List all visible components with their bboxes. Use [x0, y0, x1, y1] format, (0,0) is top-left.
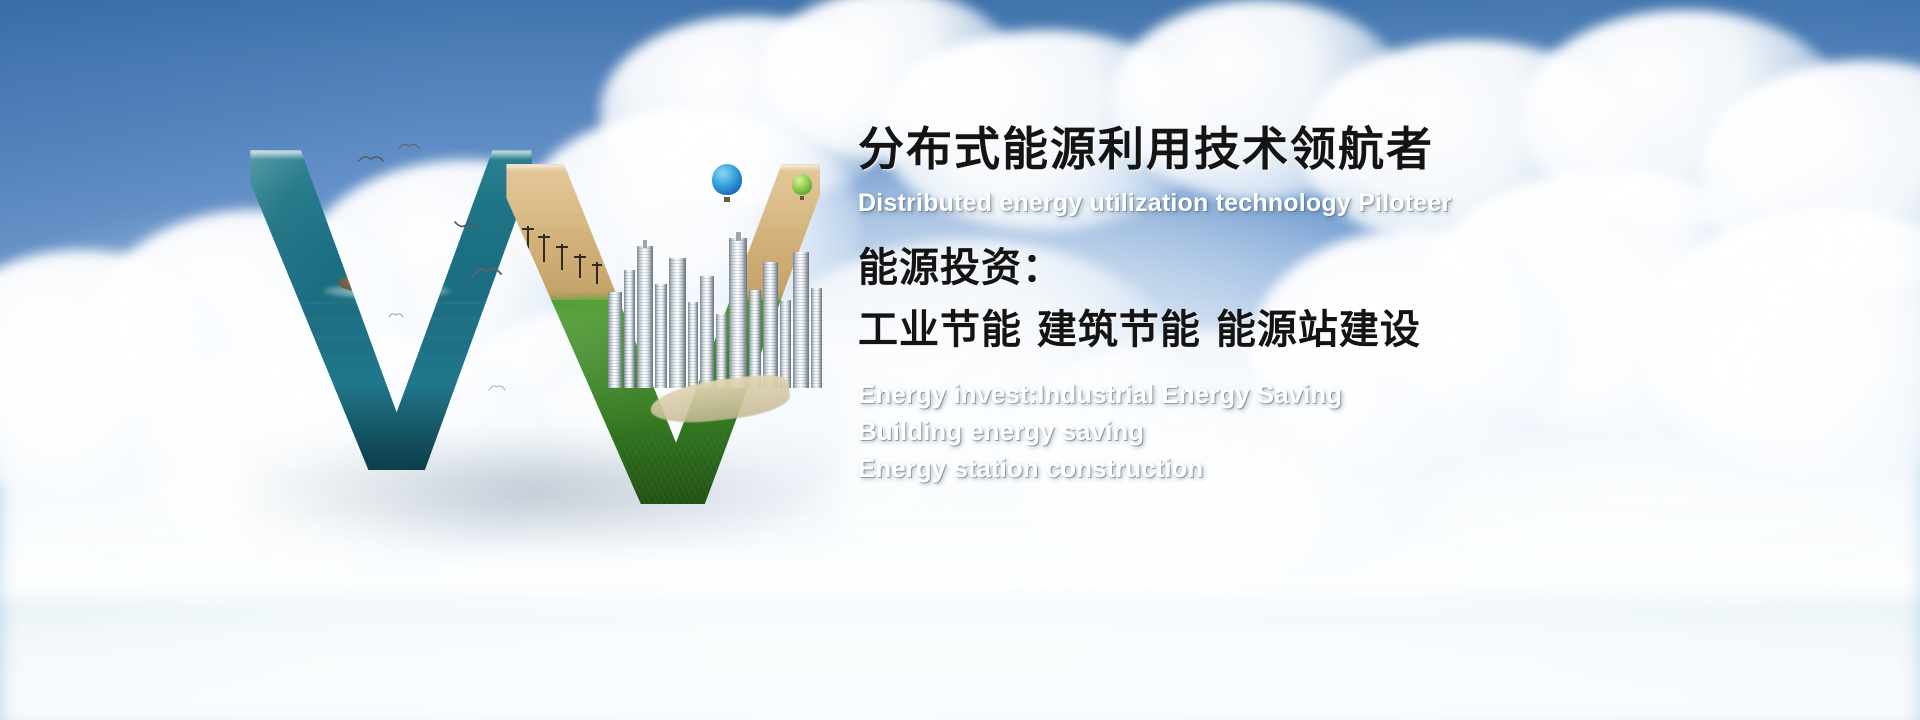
- pole-crossarm: [592, 264, 602, 266]
- services-english-line: Energy invest:Industrial Energy Saving: [858, 376, 1878, 413]
- ww-logo-illustration: 烁 秋: [232, 112, 852, 512]
- pole-crossarm: [538, 236, 550, 238]
- seagull-icon: [488, 384, 514, 394]
- utility-pole-row-5: [592, 262, 602, 284]
- lighthouse-lantern: [402, 199, 420, 210]
- utility-pole-row-4: [574, 254, 586, 278]
- building: [669, 258, 686, 388]
- ground-shadow: [242, 432, 842, 552]
- pole-crossarm: [587, 190, 617, 194]
- balloon-envelope: [792, 174, 812, 195]
- services-chinese: 工业节能 建筑节能 能源站建设: [858, 306, 1878, 354]
- building: [716, 314, 727, 388]
- hot-air-balloon-green: [792, 174, 812, 202]
- services-english-line: Building energy saving: [858, 413, 1878, 450]
- ocean-letter-v: [250, 150, 532, 470]
- building: [793, 252, 809, 388]
- building: [608, 292, 622, 388]
- pole-crossarm: [556, 246, 568, 248]
- desert-top-rim: [500, 164, 820, 171]
- utility-pole-row-3: [556, 244, 568, 270]
- services-english-line: Energy station construction: [858, 450, 1878, 487]
- seagull-icon: [454, 220, 480, 230]
- balloon-basket: [800, 196, 804, 200]
- lighthouse-icon: [398, 192, 424, 284]
- building: [749, 290, 761, 388]
- building-cap: [643, 240, 647, 248]
- building: [780, 300, 791, 388]
- banner-copy: 分布式能源利用技术领航者 Distributed energy utilizat…: [858, 122, 1878, 487]
- pole-post: [543, 234, 545, 262]
- pole-crossarm: [574, 256, 586, 258]
- rock-island: [338, 272, 434, 294]
- headline-chinese: 分布式能源利用技术领航者: [858, 122, 1878, 176]
- pole-post: [527, 226, 529, 256]
- city-skyline: [602, 208, 822, 388]
- section-label-chinese: 能源投资：: [858, 244, 1878, 292]
- building: [729, 238, 747, 388]
- hot-air-balloon-blue: [712, 164, 742, 204]
- lighthouse-tower: [405, 208, 417, 284]
- subtitle-english: Distributed energy utilization technolog…: [858, 188, 1878, 218]
- building-cap: [736, 232, 741, 241]
- seagull-icon: [398, 142, 424, 152]
- utility-pole-row-2: [538, 234, 550, 262]
- services-english-list: Energy invest:Industrial Energy Saving B…: [858, 376, 1878, 487]
- building: [700, 276, 714, 388]
- wave-line: [250, 336, 532, 338]
- building: [655, 284, 667, 388]
- building: [688, 302, 698, 388]
- pole-crossarm: [522, 228, 534, 230]
- building: [811, 288, 822, 388]
- balloon-basket: [724, 197, 730, 202]
- balloon-envelope: [712, 164, 742, 195]
- utility-pole-row-1: [522, 226, 534, 256]
- building: [763, 262, 778, 388]
- ocean-top-rim: [250, 150, 532, 159]
- wave-line: [250, 356, 532, 358]
- hero-banner: 烁 秋: [0, 0, 1920, 720]
- seagull-icon: [472, 264, 498, 274]
- wave-line: [250, 302, 532, 304]
- building: [637, 246, 653, 388]
- seagull-icon: [388, 312, 414, 322]
- building: [624, 270, 635, 388]
- seagull-icon: [358, 154, 384, 164]
- lighthouse-cap: [406, 192, 416, 200]
